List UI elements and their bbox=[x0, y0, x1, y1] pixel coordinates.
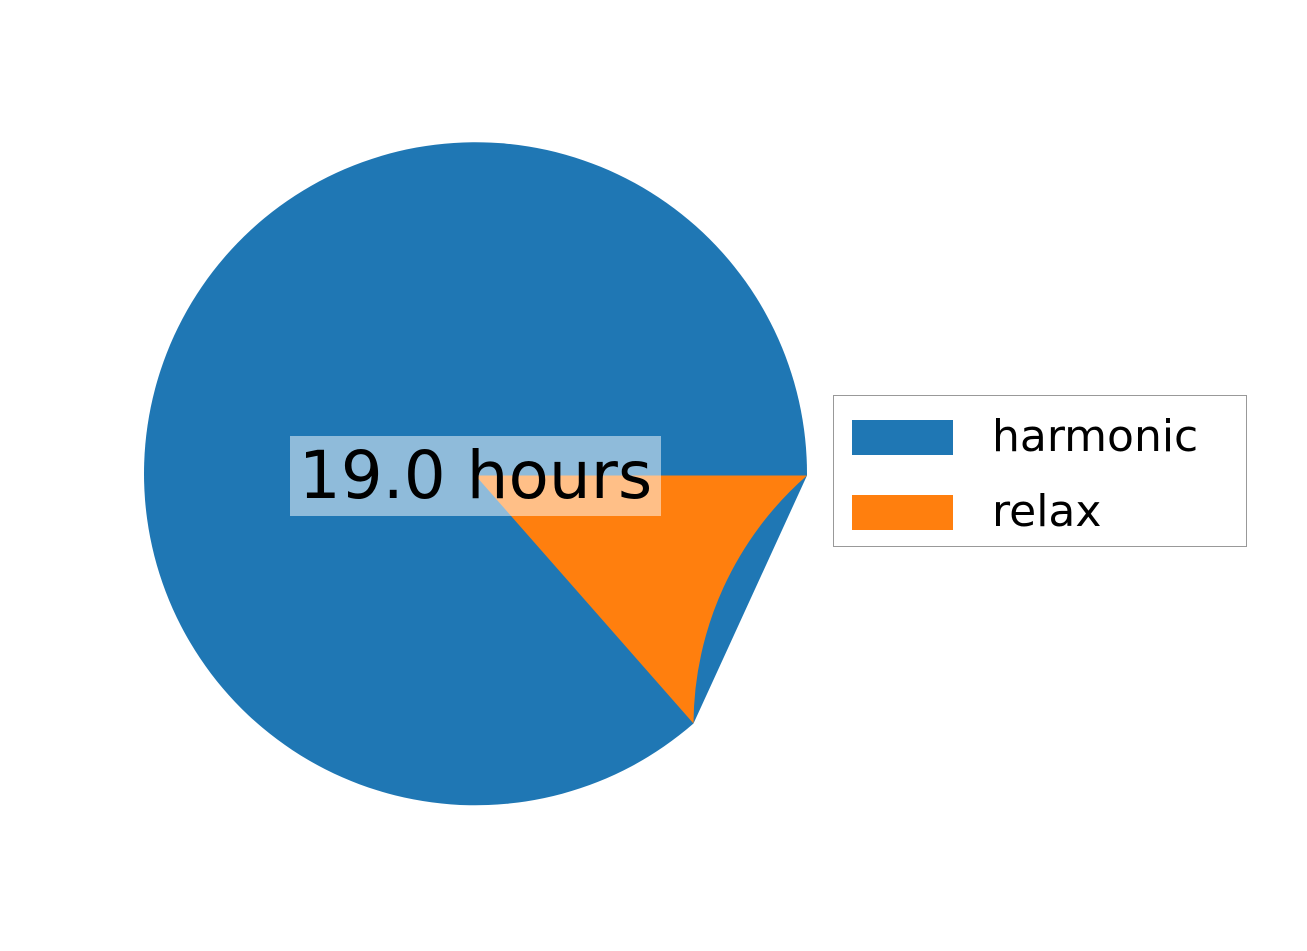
legend-entry-relax[interactable]: relax bbox=[852, 490, 1101, 534]
legend: harmonic relax bbox=[833, 395, 1247, 547]
wedge-value-label: 19.0 hours bbox=[290, 436, 661, 516]
wedge-value-label-text: 19.0 hours bbox=[299, 443, 653, 509]
pie-chart-figure: 19.0 hours harmonic relax bbox=[0, 0, 1307, 951]
legend-swatch-relax bbox=[852, 495, 953, 530]
legend-label-harmonic: harmonic bbox=[992, 415, 1198, 459]
legend-label-relax: relax bbox=[992, 490, 1101, 534]
legend-swatch-harmonic bbox=[852, 420, 953, 455]
legend-entry-harmonic[interactable]: harmonic bbox=[852, 415, 1198, 459]
